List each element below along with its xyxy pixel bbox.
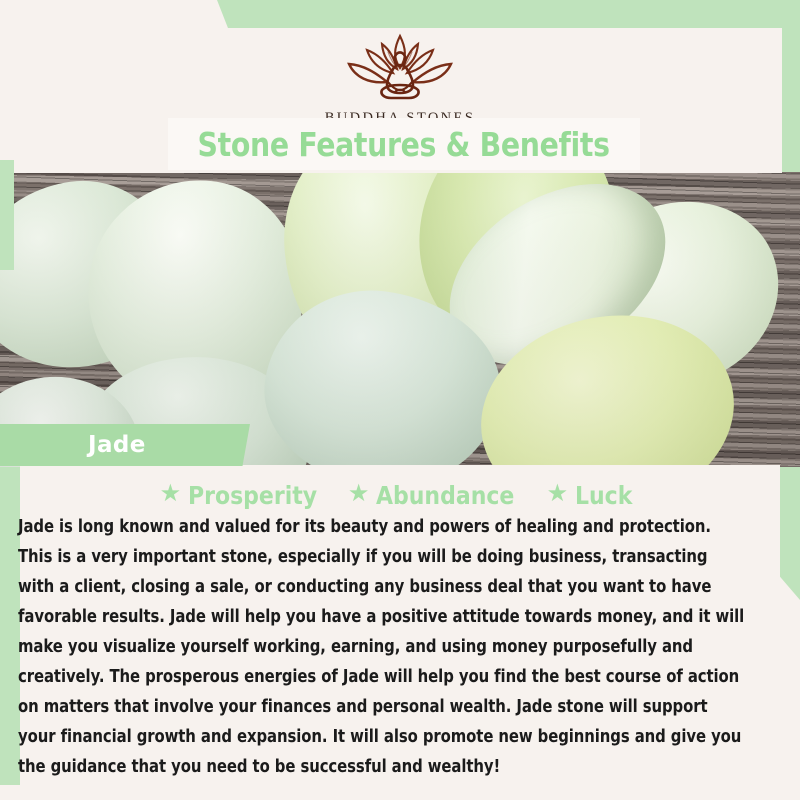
description-line: with a client, closing a sale, or conduc… <box>18 572 665 602</box>
stone-name-label: Jade <box>88 432 146 458</box>
description-line: This is a very important stone, especial… <box>18 542 665 572</box>
stone-description: Jade is long known and valued for its be… <box>18 512 784 782</box>
benefits-row: ★ Prosperity ★ Abundance ★ Luck <box>0 478 800 512</box>
benefit-item-abundance: ★ Abundance <box>348 481 534 510</box>
lotus-meditation-icon <box>325 30 475 108</box>
benefit-item-luck: ★ Luck <box>547 481 641 510</box>
stone-benefits-infographic: BUDDHA STONES Stone Features & Benefits … <box>0 0 800 800</box>
description-line: make you visualize yourself working, ear… <box>18 632 665 662</box>
stone-name-bar: Jade <box>0 424 250 466</box>
star-icon: ★ <box>547 482 569 506</box>
jade-stones-photo <box>0 172 800 467</box>
decorative-green-left-top-band <box>0 160 14 270</box>
benefit-label: Prosperity <box>188 481 317 510</box>
description-line: on matters that involve your finances an… <box>18 692 665 722</box>
description-line: the guidance that you need to be success… <box>18 752 665 782</box>
benefit-item-prosperity: ★ Prosperity <box>160 481 335 510</box>
description-line: favorable results. Jade will help you ha… <box>18 602 665 632</box>
star-icon: ★ <box>160 482 182 506</box>
description-line: your financial growth and expansion. It … <box>18 722 665 752</box>
brand-logo: BUDDHA STONES <box>0 30 800 127</box>
page-title: Stone Features & Benefits <box>198 125 610 164</box>
page-title-plate: Stone Features & Benefits <box>168 118 640 170</box>
benefit-label: Abundance <box>376 481 514 510</box>
description-line: creatively. The prosperous energies of J… <box>18 662 665 692</box>
benefit-label: Luck <box>575 481 632 510</box>
description-line: Jade is long known and valued for its be… <box>18 512 665 542</box>
star-icon: ★ <box>348 482 370 506</box>
